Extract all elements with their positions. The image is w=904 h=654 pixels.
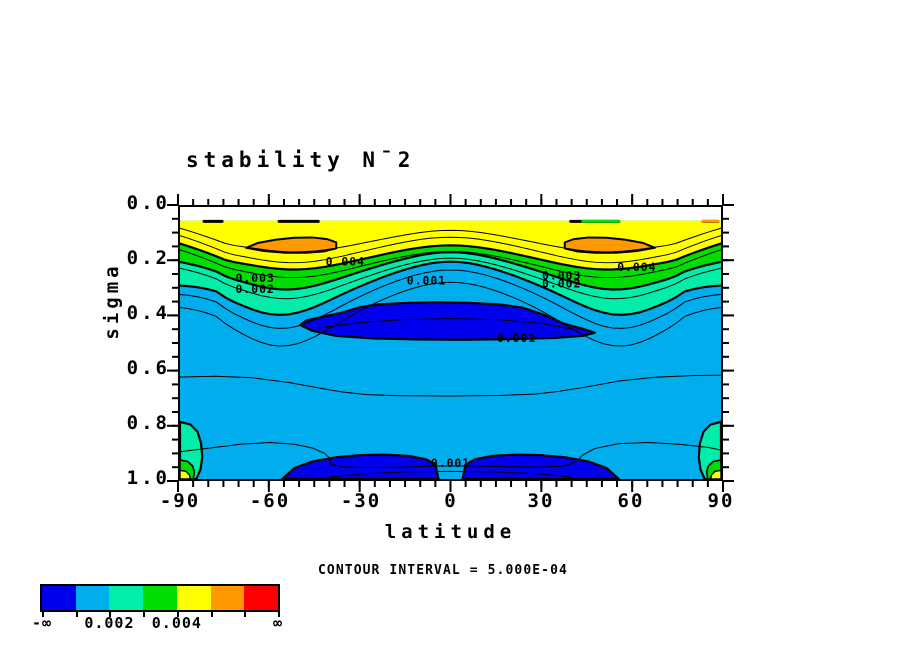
svg-text:0.001: 0.001 (407, 274, 446, 288)
colorbar-band-0[interactable] (42, 586, 76, 610)
colorbar-band-3[interactable] (143, 586, 177, 610)
y-axis-tick-labels: 0.0 0.2 0.4 0.6 0.8 1.0 (40, 0, 170, 654)
colorbar-band-2[interactable] (109, 586, 143, 610)
plot-area[interactable]: 0.0040.0030.0020.0010.0030.0020.0040.001… (178, 205, 723, 481)
contour-label-0: 0.004 (325, 255, 365, 269)
contour-plot: 0.0040.0030.0020.0010.0030.0020.0040.001… (180, 207, 721, 479)
colorbar-band-1[interactable] (76, 586, 110, 610)
contour-label-8: 0.001 (431, 456, 471, 470)
colorbar-label-3: ∞ (238, 614, 318, 632)
contour-label-2: 0.002 (235, 282, 275, 296)
contour-label-3: 0.001 (407, 274, 447, 288)
colorbar-band-6[interactable] (244, 586, 278, 610)
x-axis-label: latitude (178, 521, 723, 543)
chart-title: stability N¯2 (186, 148, 415, 172)
contour-label-7: 0.001 (497, 331, 537, 345)
svg-text:0.004: 0.004 (326, 255, 365, 269)
colorbar-band-5[interactable] (211, 586, 245, 610)
contour-figure: stability N¯2 sigma latitude 0.0 0.2 0.4… (0, 0, 904, 654)
contour-interval-caption: CONTOUR INTERVAL = 5.000E-04 (318, 563, 568, 578)
svg-text:0.002: 0.002 (542, 277, 581, 291)
svg-text:0.004: 0.004 (617, 260, 656, 274)
colorbar[interactable] (42, 586, 278, 610)
contour-label-6: 0.004 (617, 260, 657, 274)
svg-text:0.001: 0.001 (431, 456, 470, 470)
colorbar-labels: -∞0.0020.004∞ (0, 614, 340, 636)
contour-label-5: 0.002 (542, 277, 582, 291)
colorbar-label-2: 0.004 (137, 614, 217, 632)
svg-text:0.001: 0.001 (497, 331, 536, 345)
colorbar-band-4[interactable] (177, 586, 211, 610)
svg-text:0.002: 0.002 (235, 282, 274, 296)
